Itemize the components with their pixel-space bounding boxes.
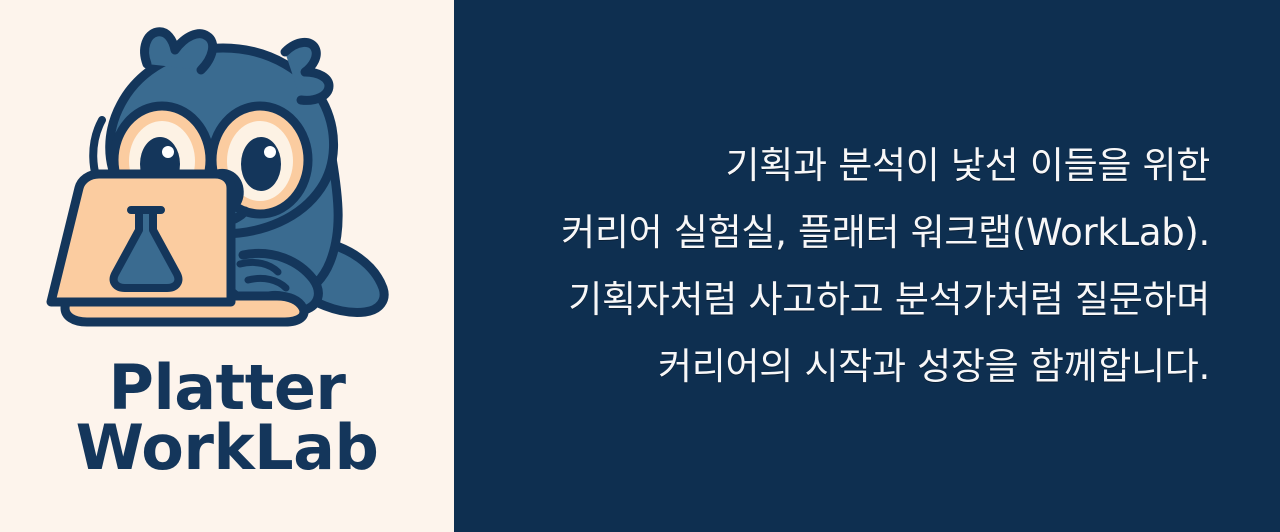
owl-with-laptop-mascot — [27, 12, 427, 364]
tagline-line-3: 기획자처럼 사고하고 분석가처럼 질문하며 — [561, 266, 1210, 333]
tagline-line-4: 커리어의 시작과 성장을 함께합니다. — [561, 333, 1210, 400]
owl-ear-tuft-left — [145, 32, 213, 70]
brand-banner: Platter WorkLab 기획과 분석이 낯선 이들을 위한 커리어 실험… — [0, 0, 1280, 532]
tagline-panel: 기획과 분석이 낯선 이들을 위한 커리어 실험실, 플래터 워크랩(WorkL… — [454, 0, 1280, 532]
wordmark-line-1: Platter — [76, 358, 379, 418]
tagline-text-block: 기획과 분석이 낯선 이들을 위한 커리어 실험실, 플래터 워크랩(WorkL… — [561, 132, 1210, 400]
tagline-line-2: 커리어 실험실, 플래터 워크랩(WorkLab). — [561, 199, 1210, 266]
owl-eye-highlight-right — [264, 146, 276, 158]
wordmark: Platter WorkLab — [76, 358, 379, 478]
owl-eye-highlight-left — [162, 146, 174, 158]
owl-pupil-right — [241, 137, 281, 191]
brand-panel: Platter WorkLab — [0, 0, 454, 532]
wordmark-line-2: WorkLab — [76, 418, 379, 478]
tagline-line-1: 기획과 분석이 낯선 이들을 위한 — [561, 132, 1210, 199]
